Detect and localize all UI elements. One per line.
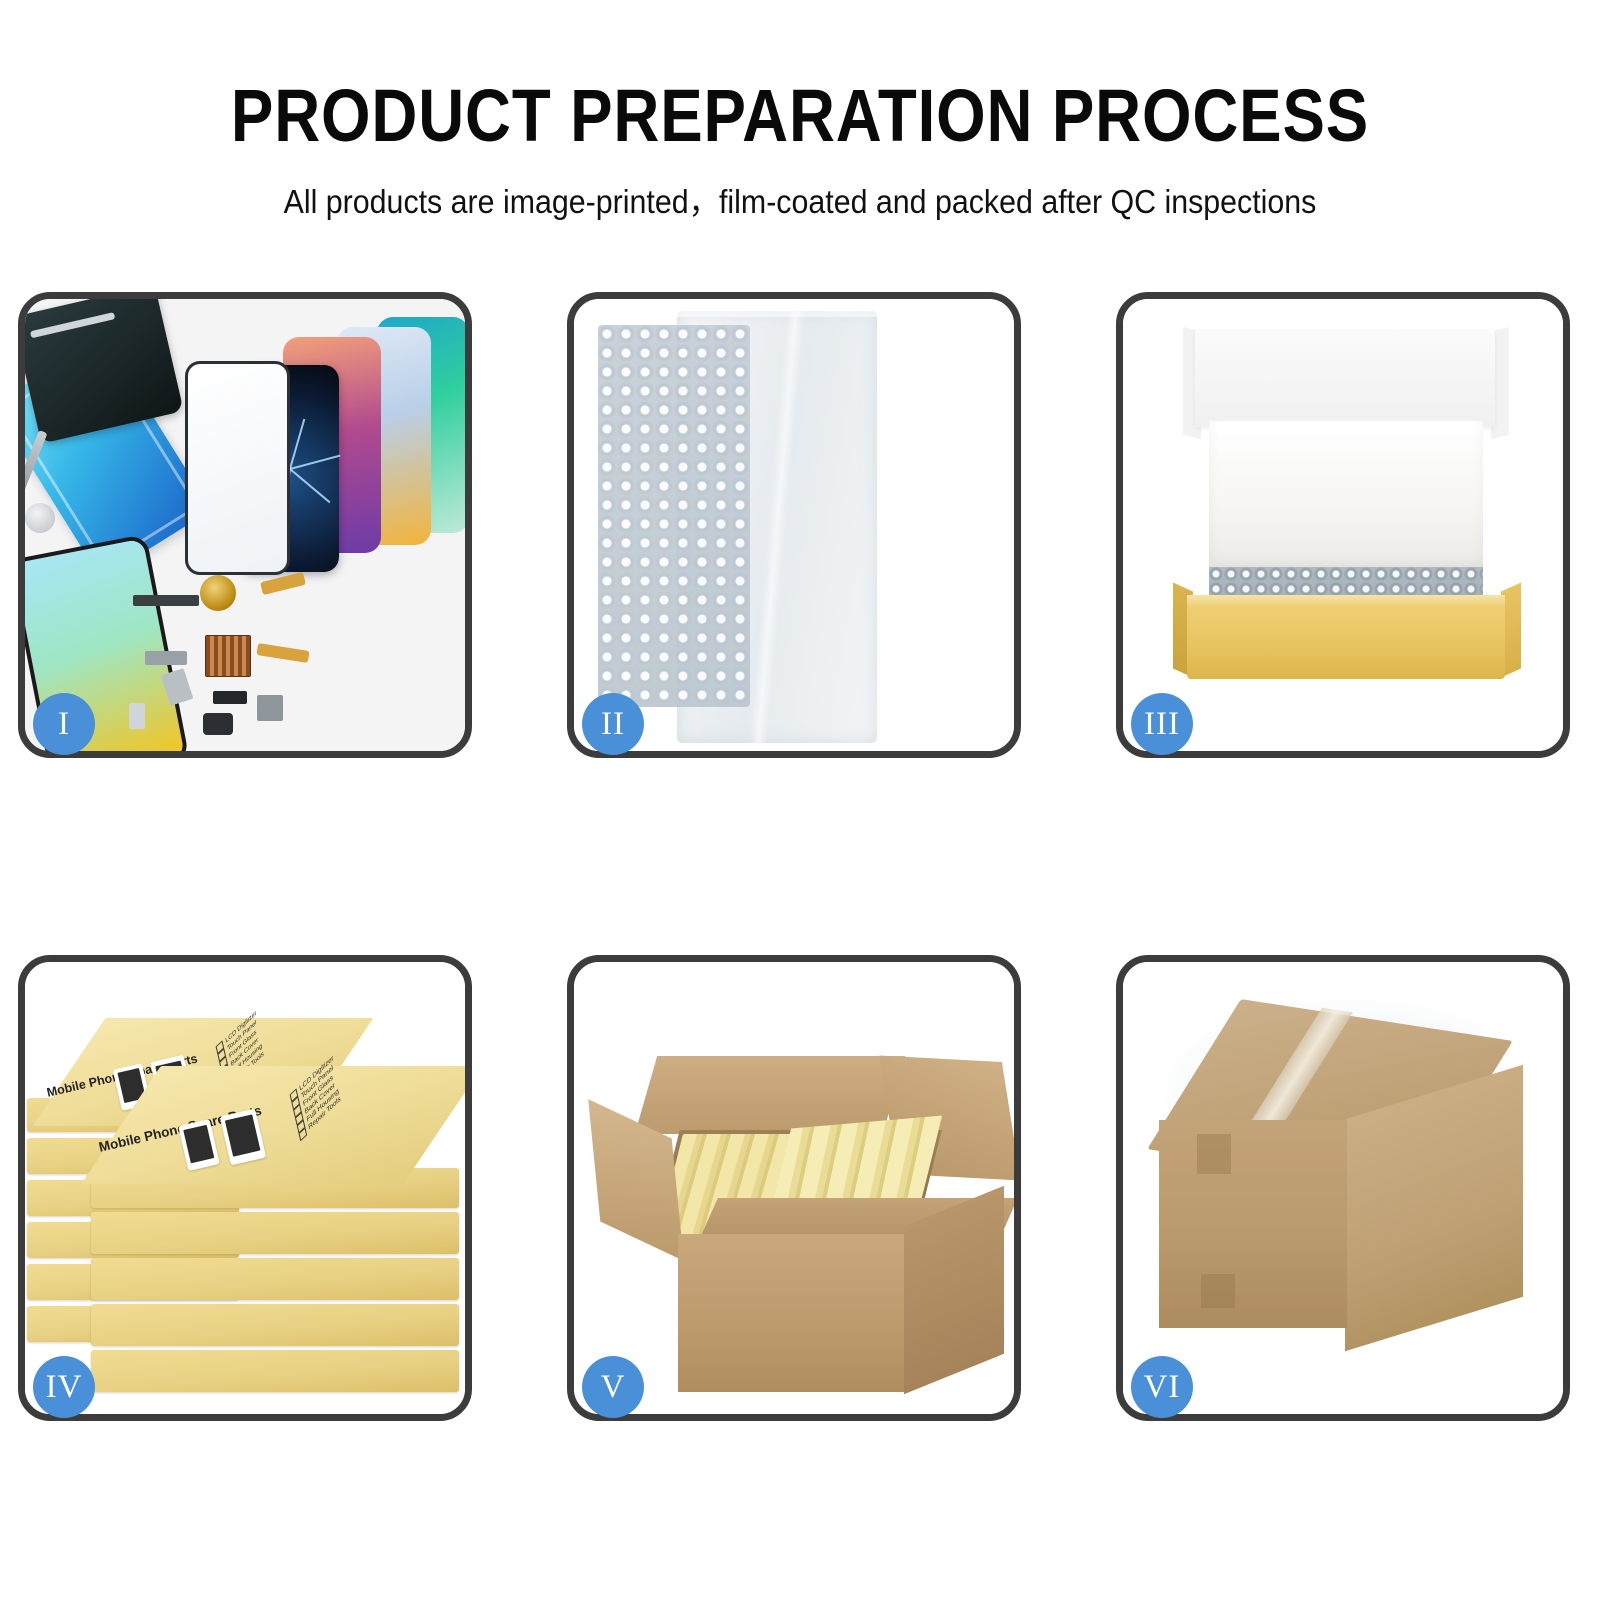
speaker-part-icon	[145, 651, 187, 665]
process-step-panel-5: V	[567, 955, 1021, 1421]
carton-tab-mark	[1197, 1134, 1231, 1174]
connector-part-icon	[213, 691, 247, 704]
step-badge-6: VI	[1131, 1356, 1193, 1418]
stacked-retail-boxes-image: Mobile Phone Spare Parts LCD Digitizer T…	[25, 962, 465, 1414]
retail-box-side	[91, 1304, 459, 1346]
box-lid-panel	[1195, 329, 1495, 427]
step-badge-4: IV	[33, 1356, 95, 1418]
ic-chip-part-icon	[205, 635, 251, 677]
process-step-panel-1: I	[18, 292, 472, 758]
earpiece-mesh-part-icon	[133, 595, 199, 606]
button-part-icon	[203, 713, 233, 735]
process-step-grid: I II III	[18, 292, 1582, 1421]
step-badge-5: V	[582, 1356, 644, 1418]
open-retail-box-image	[1123, 299, 1563, 751]
header: PRODUCT PREPARATION PROCESS All products…	[0, 0, 1600, 223]
carton-tab-mark	[1201, 1274, 1235, 1308]
page-subtitle: All products are image-printed，film-coat…	[64, 153, 1536, 223]
flex-cable-part-icon	[256, 643, 309, 663]
polish-cloth-icon	[25, 503, 55, 533]
phone-back-housing-icon	[25, 299, 184, 444]
sealed-carton-image	[1123, 962, 1563, 1414]
retail-box-side	[91, 1350, 459, 1392]
spare-parts-collage-image	[25, 299, 465, 751]
flex-cable-part-icon	[260, 572, 306, 595]
page-title: PRODUCT PREPARATION PROCESS	[112, 0, 1488, 153]
open-carton-image	[574, 962, 1014, 1414]
carton-front-face	[678, 1234, 906, 1392]
process-step-panel-6: VI	[1116, 955, 1570, 1421]
retail-box-side	[91, 1212, 459, 1254]
bubble-wrapped-product-image	[574, 299, 1014, 751]
process-step-panel-3: III	[1116, 292, 1570, 758]
product-preparation-infographic: PRODUCT PREPARATION PROCESS All products…	[0, 0, 1600, 1600]
carton-front-face	[1159, 1120, 1347, 1328]
step-badge-2: II	[582, 693, 644, 755]
wireless-coil-part-icon	[200, 575, 236, 611]
process-step-panel-2: II	[567, 292, 1021, 758]
foam-liner	[1209, 421, 1483, 569]
box-front-face	[1187, 605, 1505, 679]
step-badge-1: I	[33, 693, 95, 755]
front-glass-panel-icon	[185, 361, 290, 575]
step-badge-3: III	[1131, 693, 1193, 755]
vibrator-part-icon	[257, 695, 283, 721]
retail-box-side	[91, 1258, 459, 1300]
process-step-panel-4: Mobile Phone Spare Parts LCD Digitizer T…	[18, 955, 472, 1421]
sim-tray-part-icon	[129, 703, 145, 729]
bag-seam-highlight	[677, 311, 877, 743]
